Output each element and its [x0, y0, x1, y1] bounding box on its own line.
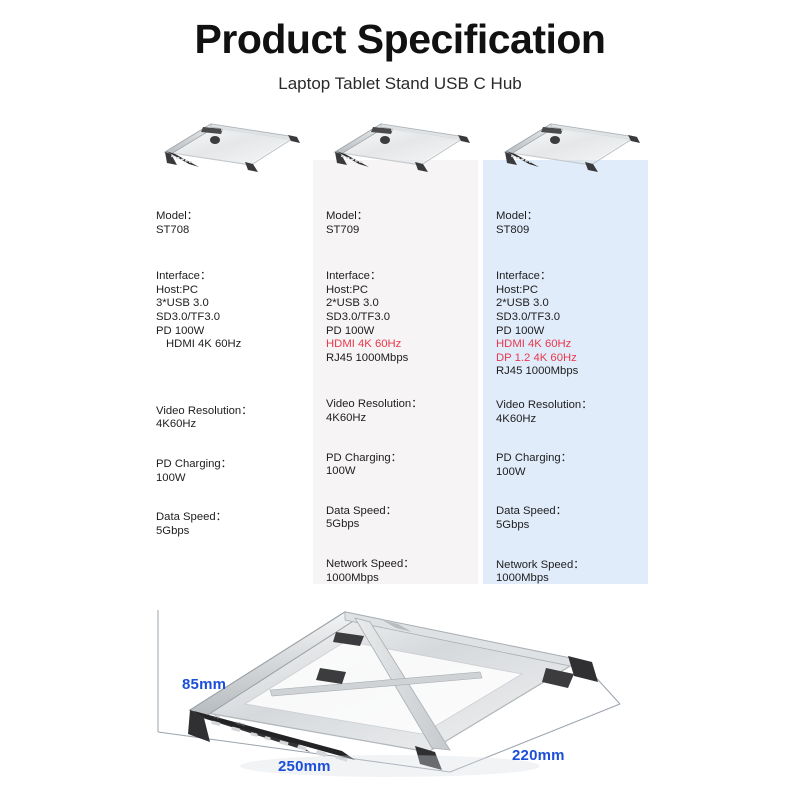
spec-group-video-resolution: Video Resolution： 4K60Hz	[326, 398, 476, 425]
network-speed-label: Network Speed：	[496, 559, 646, 573]
spec-group-model: Model： ST708	[156, 210, 306, 237]
interface-line: RJ45 1000Mbps	[496, 365, 646, 379]
interface-line: SD3.0/TF3.0	[156, 311, 306, 325]
spec-group-video-resolution: Video Resolution： 4K60Hz	[496, 399, 646, 426]
spec-group-pd-charging: PD Charging： 100W	[496, 452, 646, 479]
dimension-height-label: 85mm	[182, 676, 226, 693]
pd-charging-label: PD Charging：	[496, 452, 646, 466]
video-resolution-label: Video Resolution：	[326, 398, 476, 412]
data-speed-label: Data Speed：	[326, 505, 476, 519]
video-resolution-label: Video Resolution：	[156, 405, 306, 419]
page-subtitle: Laptop Tablet Stand USB C Hub	[0, 74, 800, 94]
spec-text-st708: Model： ST708 Interface： Host:PC 3*USB 3.…	[156, 210, 306, 538]
network-speed-value: 1000Mbps	[496, 572, 646, 586]
interface-line: PD 100W	[496, 325, 646, 339]
interface-line: 3*USB 3.0	[156, 297, 306, 311]
spec-text-st809: Model： ST809 Interface： Host:PC 2*USB 3.…	[496, 210, 646, 586]
dimension-depth-label: 220mm	[512, 747, 565, 764]
data-speed-value: 5Gbps	[496, 519, 646, 533]
spec-group-pd-charging: PD Charging： 100W	[326, 452, 476, 479]
spec-group-data-speed: Data Speed： 5Gbps	[326, 505, 476, 532]
spec-group-network-speed: Network Speed： 1000Mbps	[326, 558, 476, 585]
specification-columns: Model： ST708 Interface： Host:PC 3*USB 3.…	[143, 110, 638, 590]
data-speed-label: Data Speed：	[156, 511, 306, 525]
interface-line: SD3.0/TF3.0	[496, 311, 646, 325]
product-photo-st709	[315, 112, 477, 174]
model-value: ST809	[496, 224, 646, 238]
model-label: Model：	[156, 210, 306, 224]
interface-line: Host:PC	[326, 284, 476, 298]
interface-line: PD 100W	[326, 325, 476, 339]
interface-line-highlight: DP 1.2 4K 60Hz	[496, 352, 646, 366]
pd-charging-label: PD Charging：	[156, 458, 306, 472]
interface-line-highlight: HDMI 4K 60Hz	[326, 338, 476, 352]
dimension-width-label: 250mm	[278, 758, 331, 775]
spec-group-video-resolution: Video Resolution： 4K60Hz	[156, 405, 306, 432]
data-speed-value: 5Gbps	[156, 525, 306, 539]
interface-line: Host:PC	[156, 284, 306, 298]
spec-column-st709: Model： ST709 Interface： Host:PC 2*USB 3.…	[313, 110, 478, 590]
model-label: Model：	[496, 210, 646, 224]
pd-charging-value: 100W	[496, 466, 646, 480]
data-speed-label: Data Speed：	[496, 505, 646, 519]
video-resolution-value: 4K60Hz	[496, 413, 646, 427]
interface-line: HDMI 4K 60Hz	[156, 338, 306, 352]
spec-text-st709: Model： ST709 Interface： Host:PC 2*USB 3.…	[326, 210, 476, 585]
spec-group-pd-charging: PD Charging： 100W	[156, 458, 306, 485]
spec-column-st708: Model： ST708 Interface： Host:PC 3*USB 3.…	[143, 110, 308, 590]
interface-line: PD 100W	[156, 325, 306, 339]
interface-label: Interface：	[156, 270, 306, 284]
interface-line-highlight: HDMI 4K 60Hz	[496, 338, 646, 352]
product-photo-st809	[485, 112, 647, 174]
model-label: Model：	[326, 210, 476, 224]
spec-group-data-speed: Data Speed： 5Gbps	[156, 511, 306, 538]
spec-group-network-speed: Network Speed： 1000Mbps	[496, 559, 646, 586]
model-value: ST709	[326, 224, 476, 238]
pd-charging-value: 100W	[156, 472, 306, 486]
video-resolution-label: Video Resolution：	[496, 399, 646, 413]
video-resolution-value: 4K60Hz	[156, 418, 306, 432]
interface-line: Host:PC	[496, 284, 646, 298]
video-resolution-value: 4K60Hz	[326, 412, 476, 426]
interface-line: RJ45 1000Mbps	[326, 352, 476, 366]
network-speed-value: 1000Mbps	[326, 572, 476, 586]
interface-line: 2*USB 3.0	[496, 297, 646, 311]
data-speed-value: 5Gbps	[326, 518, 476, 532]
spec-group-data-speed: Data Speed： 5Gbps	[496, 505, 646, 532]
interface-label: Interface：	[326, 270, 476, 284]
product-photo-st708	[145, 112, 307, 174]
spec-group-interface: Interface： Host:PC 2*USB 3.0 SD3.0/TF3.0…	[326, 270, 476, 365]
pd-charging-value: 100W	[326, 465, 476, 479]
spec-group-model: Model： ST809	[496, 210, 646, 237]
spec-column-st809: Model： ST809 Interface： Host:PC 2*USB 3.…	[483, 110, 648, 590]
network-speed-label: Network Speed：	[326, 558, 476, 572]
pd-charging-label: PD Charging：	[326, 452, 476, 466]
spec-group-interface: Interface： Host:PC 3*USB 3.0 SD3.0/TF3.0…	[156, 270, 306, 352]
interface-line: SD3.0/TF3.0	[326, 311, 476, 325]
model-value: ST708	[156, 224, 306, 238]
interface-line: 2*USB 3.0	[326, 297, 476, 311]
spec-group-interface: Interface： Host:PC 2*USB 3.0 SD3.0/TF3.0…	[496, 270, 646, 379]
spec-group-model: Model： ST709	[326, 210, 476, 237]
page-title: Product Specification	[0, 16, 800, 63]
dimension-diagram: PD HDMI	[150, 600, 670, 800]
interface-label: Interface：	[496, 270, 646, 284]
